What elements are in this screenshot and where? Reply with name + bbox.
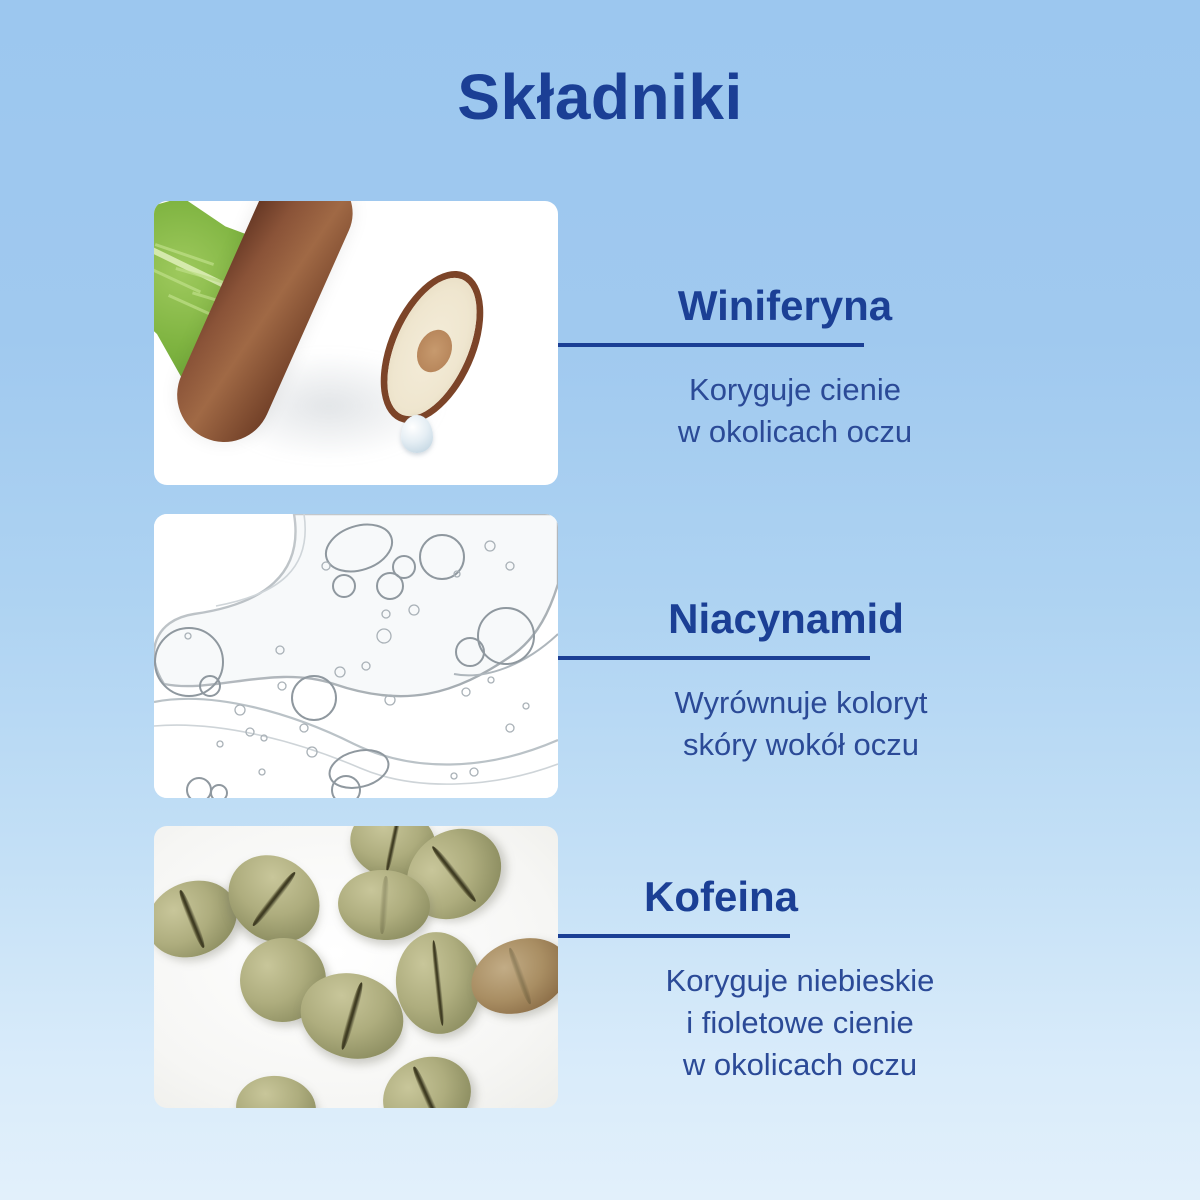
ingredient-text-kofeina: Kofeina Koryguje niebieskie i fioletowe …: [558, 826, 1154, 1086]
gel-bubbles-illustration: [154, 514, 558, 798]
ingredients-infographic: Składniki Winiferyna Koryguje cienie w o…: [0, 0, 1200, 1200]
ingredient-photo-vine-stem: [154, 201, 558, 485]
water-droplet: [401, 415, 433, 453]
ingredient-row-niacynamid: Niacynamid Wyrównuje koloryt skóry wokół…: [154, 514, 1154, 798]
ingredient-text-niacynamid: Niacynamid Wyrównuje koloryt skóry wokół…: [558, 514, 1154, 766]
ingredient-photo-coffee-beans: [154, 826, 558, 1108]
ingredient-row-kofeina: Kofeina Koryguje niebieskie i fioletowe …: [154, 826, 1154, 1108]
ingredient-row-winiferyna: Winiferyna Koryguje cienie w okolicach o…: [154, 201, 1154, 485]
ingredient-description: Koryguje cienie w okolicach oczu: [558, 369, 1154, 453]
ingredient-title: Niacynamid: [558, 514, 1154, 640]
title-divider: [558, 934, 790, 938]
ingredient-description: Koryguje niebieskie i fioletowe cienie w…: [558, 960, 1154, 1086]
title-divider: [558, 343, 864, 347]
ingredient-photo-gel-texture: [154, 514, 558, 798]
ingredient-title: Winiferyna: [558, 201, 1154, 327]
ingredient-description: Wyrównuje koloryt skóry wokół oczu: [558, 682, 1154, 766]
ingredient-title: Kofeina: [558, 826, 1154, 918]
title-divider: [558, 656, 870, 660]
page-title: Składniki: [0, 62, 1200, 132]
ingredient-text-winiferyna: Winiferyna Koryguje cienie w okolicach o…: [558, 201, 1154, 453]
